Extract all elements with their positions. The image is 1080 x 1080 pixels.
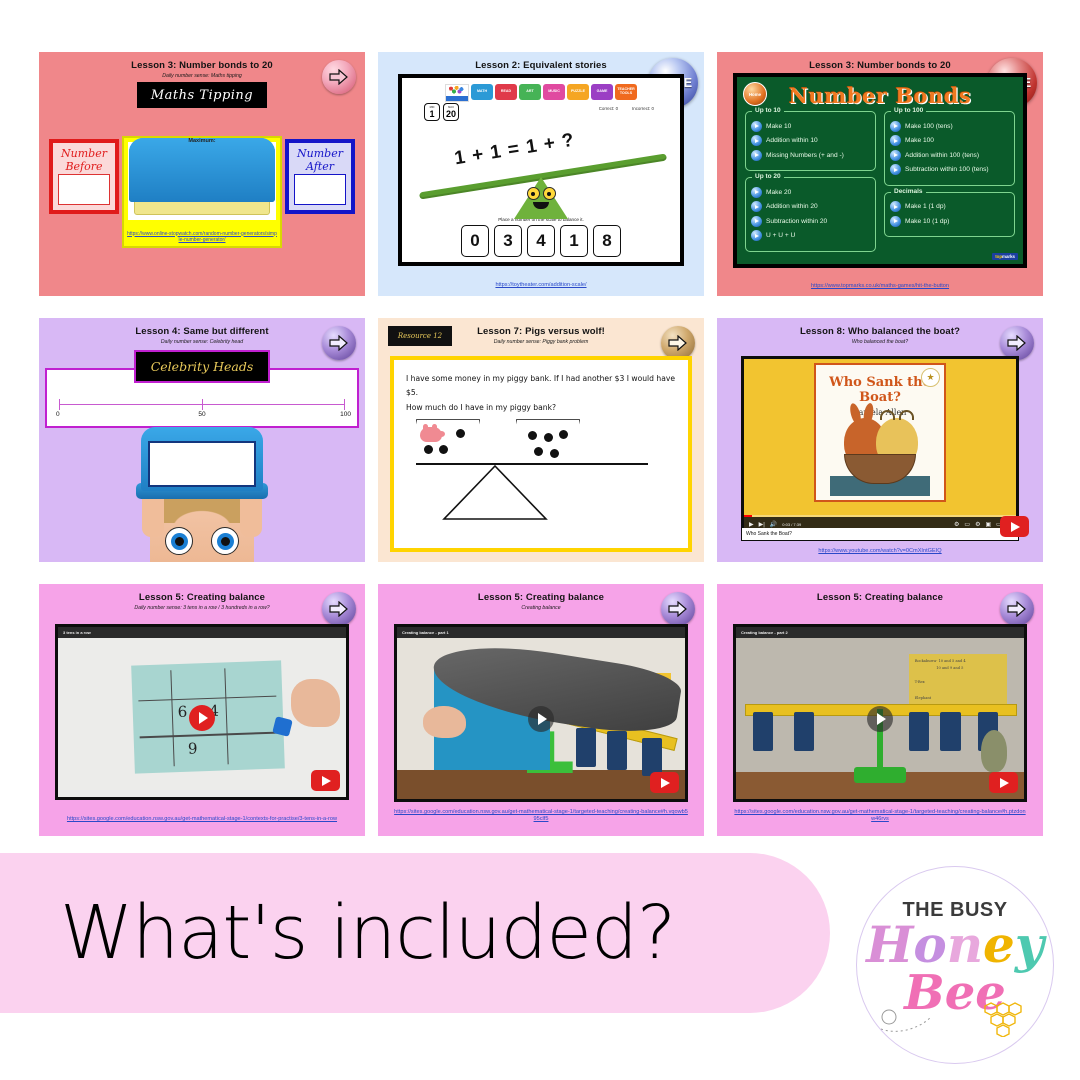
random-number-generator: Lowest: 0 Maximum: 50 Pick! Result: http… [122, 136, 282, 248]
arrow-right-icon [329, 69, 349, 85]
slide-creating-balance-part-2[interactable]: Lesson 5: Creating balance Creating bala… [717, 584, 1043, 836]
slide-number-bonds[interactable]: Lesson 3: Number bonds to 20 HOME Home N… [717, 52, 1043, 296]
play-icon [890, 216, 901, 227]
bond-option[interactable]: Subtraction within 20 [751, 216, 870, 227]
token-max[interactable]: MAX20 [443, 103, 459, 121]
slide-subtitle: Creating balance [378, 606, 704, 612]
slide-grid: Lesson 3: Number bonds to 20 Daily numbe… [39, 52, 1045, 836]
celebrity-heads-banner: Celebrity Heads [134, 350, 270, 383]
group-up-to-100: Up to 100 Make 100 (tens) Make 100 Addit… [884, 111, 1015, 186]
arrow-right-icon [668, 335, 688, 351]
maths-tipping-banner: Maths Tipping [137, 82, 267, 108]
play-button[interactable] [189, 705, 215, 731]
tick-label-min: 0 [56, 411, 60, 418]
peg [940, 712, 960, 751]
play-icon [751, 230, 762, 241]
video-frame [397, 638, 685, 799]
tab-puzzle[interactable]: PUZZLE [567, 84, 589, 100]
source-url[interactable]: https://sites.google.com/education.nsw.g… [717, 809, 1043, 824]
source-url[interactable]: https://toytheater.com/addition-scale/ [378, 282, 704, 290]
banner-heading: What's included? [60, 890, 675, 976]
play-icon [890, 135, 901, 146]
bond-option[interactable]: U + U + U [751, 230, 870, 241]
balance-diagram [394, 419, 688, 529]
toy-theater-frame: MATH READ ART MUSIC PUZZLE GAME TEACHER … [398, 74, 684, 266]
next-slide-button[interactable] [1000, 592, 1034, 626]
tick-label-mid: 50 [198, 411, 205, 418]
next-slide-button[interactable] [661, 592, 695, 626]
brand-logo: THE BUSY Honey Bee [856, 866, 1054, 1064]
choice-tile[interactable]: 3 [494, 225, 522, 257]
tick-100 [344, 399, 345, 410]
source-url[interactable]: https://sites.google.com/education.nsw.g… [39, 816, 365, 824]
progress-bar[interactable] [744, 515, 1016, 517]
peg [576, 728, 596, 767]
choice-tile[interactable]: 0 [461, 225, 489, 257]
topmarks-watermark: topmarks [992, 253, 1018, 260]
toy-theater-nav: MATH READ ART MUSIC PUZZLE GAME TEACHER … [402, 78, 680, 102]
video-player[interactable]: Who Sank the Boat? Pamela Allen ★ ▶ ▶| 🔊… [741, 356, 1019, 534]
hand-icon [423, 706, 466, 738]
next-slide-button[interactable] [322, 326, 356, 360]
tab-game[interactable]: GAME [591, 84, 613, 100]
group-up-to-20: Up to 20 Make 20 Addition within 20 Subt… [745, 177, 876, 252]
tick-50 [202, 399, 203, 410]
slide-three-tens-in-a-row[interactable]: Lesson 5: Creating balance Daily number … [39, 584, 365, 836]
boat-illustration [830, 418, 930, 496]
home-icon-button[interactable]: Home [743, 82, 767, 106]
bond-option[interactable]: Make 10 (1 dp) [890, 216, 1009, 227]
group-legend: Decimals [891, 188, 926, 195]
tab-read[interactable]: READ [495, 84, 517, 100]
slide-subtitle: Daily number sense: 3 tens in a row / 3 … [39, 606, 365, 612]
bond-option[interactable]: Addition within 10 [751, 135, 870, 146]
video-player[interactable]: Creating balance - part 1 [394, 624, 688, 802]
video-player[interactable]: Creating balance - part 2 Rockaburra- 10… [733, 624, 1027, 802]
settings-icon[interactable]: ⚙ [975, 521, 980, 528]
video-frame: 6 + 4 9 [58, 638, 346, 797]
maximum-label: Maximum: [129, 138, 275, 202]
bond-option[interactable]: Make 1 (1 dp) [890, 201, 1009, 212]
play-icon [751, 201, 762, 212]
tick-0 [59, 399, 60, 410]
slide-title: Lesson 4: Same but different [39, 318, 365, 338]
choice-tile[interactable]: 4 [527, 225, 555, 257]
video-player[interactable]: 3 tens in a row 6 + 4 9 [55, 624, 349, 800]
banner-text: Celebrity Heads [151, 359, 254, 374]
problem-line-1: I have some money in my piggy bank. If I… [394, 360, 688, 401]
slide-equivalent-stories[interactable]: Lesson 2: Equivalent stories HOME MATH R… [378, 52, 704, 296]
peg [909, 712, 929, 751]
number-after-label: NumberAfter [289, 143, 351, 173]
note-line-2: 10 and 9 and 5 [936, 666, 963, 670]
video-label: 3 tens in a row [58, 627, 346, 638]
next-slide-button[interactable] [1000, 326, 1034, 360]
slide-who-sank-the-boat[interactable]: Lesson 8: Who balanced the boat? Who bal… [717, 318, 1043, 562]
number-bonds-app: Home Number Bonds Up to 10 Make 10 Addit… [733, 73, 1027, 268]
group-legend: Up to 20 [752, 173, 784, 180]
slide-maths-tipping[interactable]: Lesson 3: Number bonds to 20 Daily numbe… [39, 52, 365, 296]
play-icon [890, 164, 901, 175]
choice-tile[interactable]: 1 [560, 225, 588, 257]
headband-card[interactable] [148, 441, 256, 487]
bond-option[interactable]: Make 100 (tens) [890, 121, 1009, 132]
youtube-badge-icon[interactable] [650, 772, 679, 793]
generator-url[interactable]: https://www.online-stopwatch.com/random-… [124, 231, 280, 245]
choice-tile[interactable]: 8 [593, 225, 621, 257]
bond-option[interactable]: Make 20 [751, 187, 870, 198]
fulcrum-triangle-icon [440, 464, 550, 522]
bond-option[interactable]: Missing Numbers (+ and -) [751, 150, 870, 161]
book-cover: Who Sank the Boat? Pamela Allen ★ [814, 363, 946, 502]
youtube-badge-icon[interactable] [311, 770, 340, 791]
play-icon [890, 150, 901, 161]
bond-option[interactable]: Make 10 [751, 121, 870, 132]
toy-theater-logo-icon [445, 84, 469, 102]
play-icon [890, 201, 901, 212]
source-url[interactable]: https://sites.google.com/education.nsw.g… [378, 809, 704, 824]
slide-celebrity-heads[interactable]: Lesson 4: Same but different Daily numbe… [39, 318, 365, 562]
number-before-label: NumberBefore [53, 143, 115, 173]
bond-option[interactable]: Addition within 20 [751, 201, 870, 212]
play-button[interactable] [867, 706, 893, 732]
banner-text: Maths Tipping [151, 88, 253, 103]
peg [607, 731, 627, 770]
tab-teacher-tools[interactable]: TEACHER TOOLS [615, 84, 637, 100]
source-url[interactable]: https://www.youtube.com/watch?v=0CmXIntG… [717, 548, 1043, 556]
tab-math[interactable]: MATH [471, 84, 493, 100]
number-before-box: NumberBefore [49, 139, 119, 214]
problem-frame: I have some money in my piggy bank. If I… [390, 356, 692, 552]
group-up-to-10: Up to 10 Make 10 Addition within 10 Miss… [745, 111, 876, 171]
bond-option[interactable]: Addition within 100 (tens) [890, 150, 1009, 161]
tab-art[interactable]: ART [519, 84, 541, 100]
note-line-4: Elephant [915, 696, 931, 700]
tick-label-max: 100 [340, 411, 351, 418]
time-code: 0:03 / 7:39 [782, 522, 949, 527]
scale-face-icon [521, 187, 561, 209]
youtube-badge-icon[interactable] [989, 772, 1018, 793]
video-frame: Rockaburra- 10 and 5 and 4 10 and 9 and … [736, 638, 1024, 799]
slide-title: Lesson 5: Creating balance [378, 584, 704, 604]
peg [794, 712, 814, 751]
number-after-box: NumberAfter [285, 139, 355, 214]
piggy-bank-icon [420, 427, 442, 442]
source-url[interactable]: https://www.topmarks.co.uk/maths-games/h… [717, 283, 1043, 291]
play-icon [751, 135, 762, 146]
hand-icon [291, 679, 340, 727]
group-legend: Up to 100 [891, 107, 926, 114]
arrow-right-icon [668, 601, 688, 617]
slide-creating-balance-part-1[interactable]: Lesson 5: Creating balance Creating bala… [378, 584, 704, 836]
note-line-3: T-Rex [915, 680, 925, 684]
play-icon [751, 187, 762, 198]
bond-option[interactable]: Make 100 [890, 135, 1009, 146]
whats-included-banner: What's included? [0, 853, 830, 1013]
peg [642, 738, 662, 777]
arrow-right-icon [1007, 601, 1027, 617]
board-answer: 9 [188, 739, 198, 757]
slide-title: Lesson 3: Number bonds to 20 [39, 52, 365, 72]
play-icon [751, 121, 762, 132]
number-before-field[interactable] [58, 174, 110, 205]
group-legend: Up to 10 [752, 107, 784, 114]
note-line-1: Rockaburra- 10 and 5 and 4 [915, 659, 966, 663]
celebrity-head-illustration [136, 427, 268, 562]
next-icon[interactable]: ▶| [759, 521, 765, 528]
problem-line-2: How much do I have in my piggy bank? [394, 401, 688, 415]
app-title: Number Bonds [745, 85, 1015, 106]
slide-subtitle: Who balanced the boat? [717, 340, 1043, 346]
next-slide-button[interactable] [322, 60, 356, 94]
pan-right [516, 419, 580, 465]
toy-figure-icon [981, 730, 1007, 772]
slide-title: Lesson 5: Creating balance [717, 584, 1043, 604]
equation-text: 1 + 1 = 1 + ? [453, 130, 576, 171]
slide-title: Lesson 5: Creating balance [39, 584, 365, 604]
award-star-icon: ★ [921, 368, 940, 387]
number-choices: 0 3 4 1 8 [402, 225, 680, 257]
play-icon [751, 150, 762, 161]
swirl-icon [879, 995, 949, 1035]
group-decimals: Decimals Make 1 (1 dp) Make 10 (1 dp) [884, 192, 1015, 238]
play-icon [751, 216, 762, 227]
slide-subtitle: Daily number sense: Maths tipping [39, 74, 365, 80]
slide-subtitle: Daily number sense: Celebrity head [39, 340, 365, 346]
slide-title: Lesson 8: Who balanced the boat? [717, 318, 1043, 338]
autoplay-icon[interactable]: ⚙ [954, 521, 959, 528]
tab-music[interactable]: MUSIC [543, 84, 565, 100]
maximum-group: Maximum: 50 [205, 145, 270, 159]
video-label: Creating balance - part 2 [736, 627, 1024, 638]
youtube-badge-icon[interactable] [1000, 516, 1029, 537]
slide-pigs-versus-wolf[interactable]: Lesson 7: Pigs versus wolf! Daily number… [378, 318, 704, 562]
bond-option[interactable]: Subtraction within 100 (tens) [890, 164, 1009, 175]
token-min[interactable]: MIN1 [424, 103, 440, 121]
volume-icon[interactable]: 🔊 [770, 521, 777, 528]
balance-scale: 1 + 1 = 1 + ? [402, 127, 680, 215]
face-icon [150, 497, 254, 562]
honeycomb-icon [983, 1001, 1029, 1037]
arrow-right-icon [329, 601, 349, 617]
arrow-right-icon [329, 335, 349, 351]
number-after-field[interactable] [294, 174, 346, 205]
video-label: Creating balance - part 1 [397, 627, 685, 638]
next-slide-button[interactable] [322, 592, 356, 626]
peg [753, 712, 773, 751]
next-slide-button[interactable] [661, 326, 695, 360]
play-button[interactable] [528, 706, 554, 732]
arrow-right-icon [1007, 335, 1027, 351]
resource-tag: Resource 12 [388, 326, 452, 346]
play-icon [890, 121, 901, 132]
miniplayer-icon[interactable]: ▣ [985, 521, 991, 528]
play-icon[interactable]: ▶ [749, 521, 754, 528]
incorrect-count: Incorrect: 0 [632, 106, 654, 111]
video-caption: Who Sank the Boat? [741, 528, 1019, 541]
correct-count: Correct: 0 [599, 106, 618, 111]
subtitles-icon[interactable]: ▭ [964, 521, 970, 528]
